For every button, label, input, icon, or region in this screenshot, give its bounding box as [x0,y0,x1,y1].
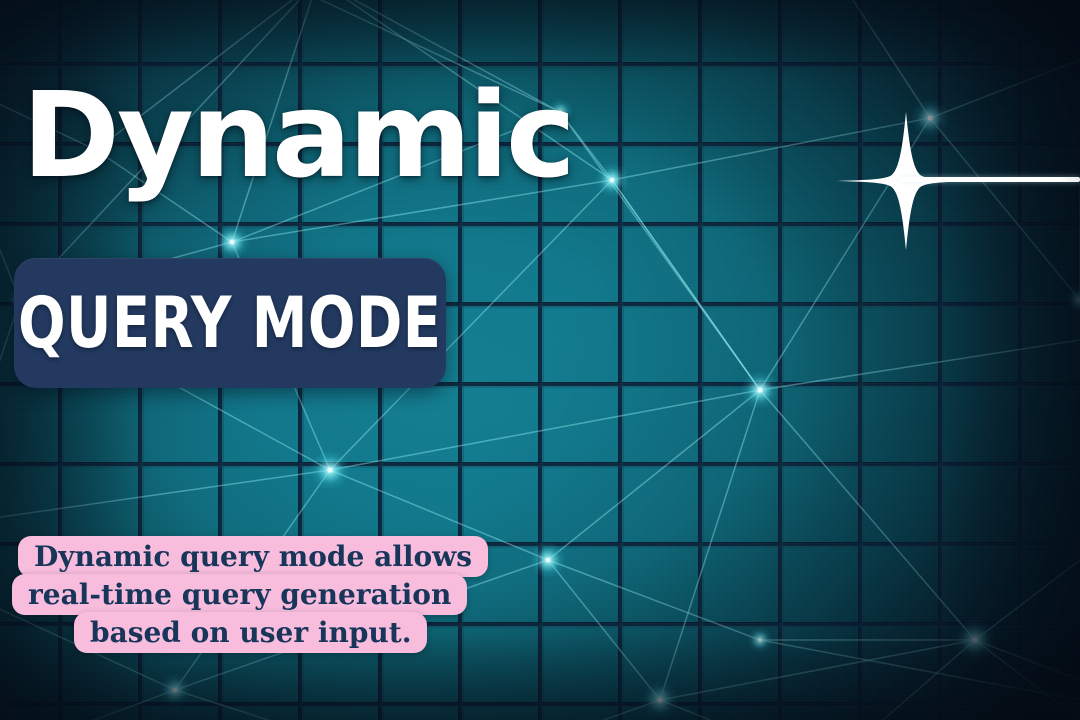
query-mode-badge: QUERY MODE [14,258,446,388]
caption-line-1: Dynamic query mode allows [18,536,488,577]
query-mode-badge-label: QUERY MODE [18,288,442,358]
horizontal-light-ray [900,177,1080,182]
caption-line-3: based on user input. [74,612,427,653]
slide-canvas: Dynamic QUERY MODE Dynamic query mode al… [0,0,1080,720]
page-title: Dynamic [22,76,573,194]
caption-highlight-block: Dynamic query mode allows real-time quer… [0,536,480,653]
caption-line-2: real-time query generation [12,574,467,615]
